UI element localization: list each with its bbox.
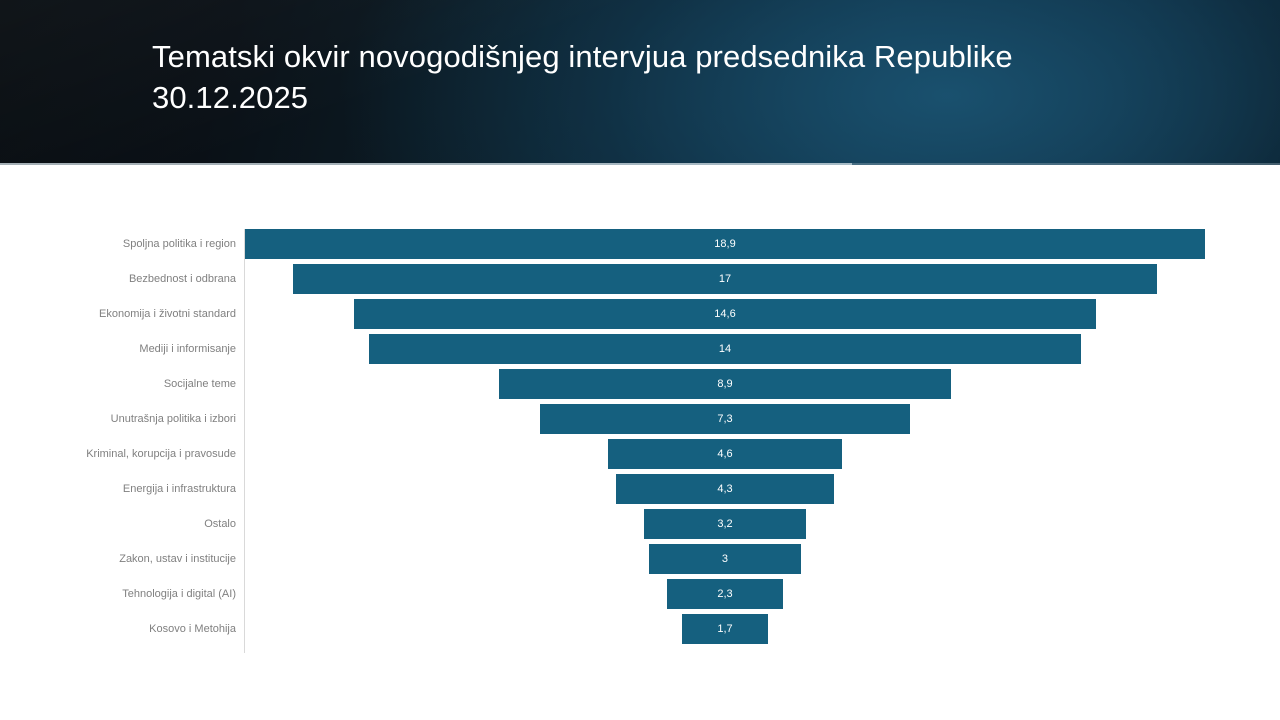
bar-track: 18,9 bbox=[245, 229, 1205, 259]
category-label: Tehnologija i digital (AI) bbox=[0, 579, 236, 609]
bar-value-label: 7,3 bbox=[540, 404, 911, 434]
bar-value-label: 1,7 bbox=[682, 614, 768, 644]
bar[interactable]: 3,2 bbox=[644, 509, 807, 539]
category-label: Mediji i informisanje bbox=[0, 334, 236, 364]
bar[interactable]: 17 bbox=[293, 264, 1156, 294]
bar-track: 4,3 bbox=[245, 474, 1205, 504]
bar[interactable]: 1,7 bbox=[682, 614, 768, 644]
bar-value-label: 14,6 bbox=[354, 299, 1096, 329]
bar-value-label: 3 bbox=[649, 544, 801, 574]
category-label: Kriminal, korupcija i pravosude bbox=[0, 439, 236, 469]
bar-track: 8,9 bbox=[245, 369, 1205, 399]
slide-header-banner: Tematski okvir novogodišnjeg intervjua p… bbox=[0, 0, 1280, 165]
bar-track: 3 bbox=[245, 544, 1205, 574]
chart-row: Socijalne teme8,9 bbox=[0, 369, 1280, 399]
category-label: Zakon, ustav i institucije bbox=[0, 544, 236, 574]
chart-row: Mediji i informisanje14 bbox=[0, 334, 1280, 364]
category-label: Ekonomija i životni standard bbox=[0, 299, 236, 329]
bar[interactable]: 8,9 bbox=[499, 369, 951, 399]
category-label: Spoljna politika i region bbox=[0, 229, 236, 259]
bar-track: 14,6 bbox=[245, 299, 1205, 329]
chart-row: Tehnologija i digital (AI)2,3 bbox=[0, 579, 1280, 609]
bar-track: 3,2 bbox=[245, 509, 1205, 539]
bar-track: 4,6 bbox=[245, 439, 1205, 469]
bar-value-label: 8,9 bbox=[499, 369, 951, 399]
funnel-bar-chart: Spoljna politika i region18,9Bezbednost … bbox=[0, 165, 1280, 720]
bar-value-label: 18,9 bbox=[245, 229, 1205, 259]
bar[interactable]: 2,3 bbox=[667, 579, 784, 609]
bar-value-label: 4,3 bbox=[616, 474, 834, 504]
bar-track: 14 bbox=[245, 334, 1205, 364]
chart-row: Zakon, ustav i institucije3 bbox=[0, 544, 1280, 574]
bar-value-label: 4,6 bbox=[608, 439, 842, 469]
chart-row: Kosovo i Metohija1,7 bbox=[0, 614, 1280, 644]
bar[interactable]: 18,9 bbox=[245, 229, 1205, 259]
chart-row: Energija i infrastruktura4,3 bbox=[0, 474, 1280, 504]
chart-row: Unutrašnja politika i izbori7,3 bbox=[0, 404, 1280, 434]
bar[interactable]: 7,3 bbox=[540, 404, 911, 434]
bar[interactable]: 4,6 bbox=[608, 439, 842, 469]
bar[interactable]: 14 bbox=[369, 334, 1080, 364]
bar[interactable]: 3 bbox=[649, 544, 801, 574]
bar-value-label: 2,3 bbox=[667, 579, 784, 609]
chart-row: Spoljna politika i region18,9 bbox=[0, 229, 1280, 259]
category-label: Energija i infrastruktura bbox=[0, 474, 236, 504]
bar-track: 1,7 bbox=[245, 614, 1205, 644]
category-label: Kosovo i Metohija bbox=[0, 614, 236, 644]
chart-rows: Spoljna politika i region18,9Bezbednost … bbox=[0, 229, 1280, 649]
bar-value-label: 3,2 bbox=[644, 509, 807, 539]
bar-track: 17 bbox=[245, 264, 1205, 294]
category-label: Socijalne teme bbox=[0, 369, 236, 399]
category-label: Ostalo bbox=[0, 509, 236, 539]
category-label: Bezbednost i odbrana bbox=[0, 264, 236, 294]
category-label: Unutrašnja politika i izbori bbox=[0, 404, 236, 434]
page-title: Tematski okvir novogodišnjeg intervjua p… bbox=[152, 36, 1132, 118]
chart-row: Ekonomija i životni standard14,6 bbox=[0, 299, 1280, 329]
bar-track: 7,3 bbox=[245, 404, 1205, 434]
slide: Tematski okvir novogodišnjeg intervjua p… bbox=[0, 0, 1280, 720]
bar-track: 2,3 bbox=[245, 579, 1205, 609]
bar-value-label: 17 bbox=[293, 264, 1156, 294]
bar[interactable]: 14,6 bbox=[354, 299, 1096, 329]
bar[interactable]: 4,3 bbox=[616, 474, 834, 504]
chart-row: Ostalo3,2 bbox=[0, 509, 1280, 539]
chart-row: Kriminal, korupcija i pravosude4,6 bbox=[0, 439, 1280, 469]
chart-row: Bezbednost i odbrana17 bbox=[0, 264, 1280, 294]
bar-value-label: 14 bbox=[369, 334, 1080, 364]
